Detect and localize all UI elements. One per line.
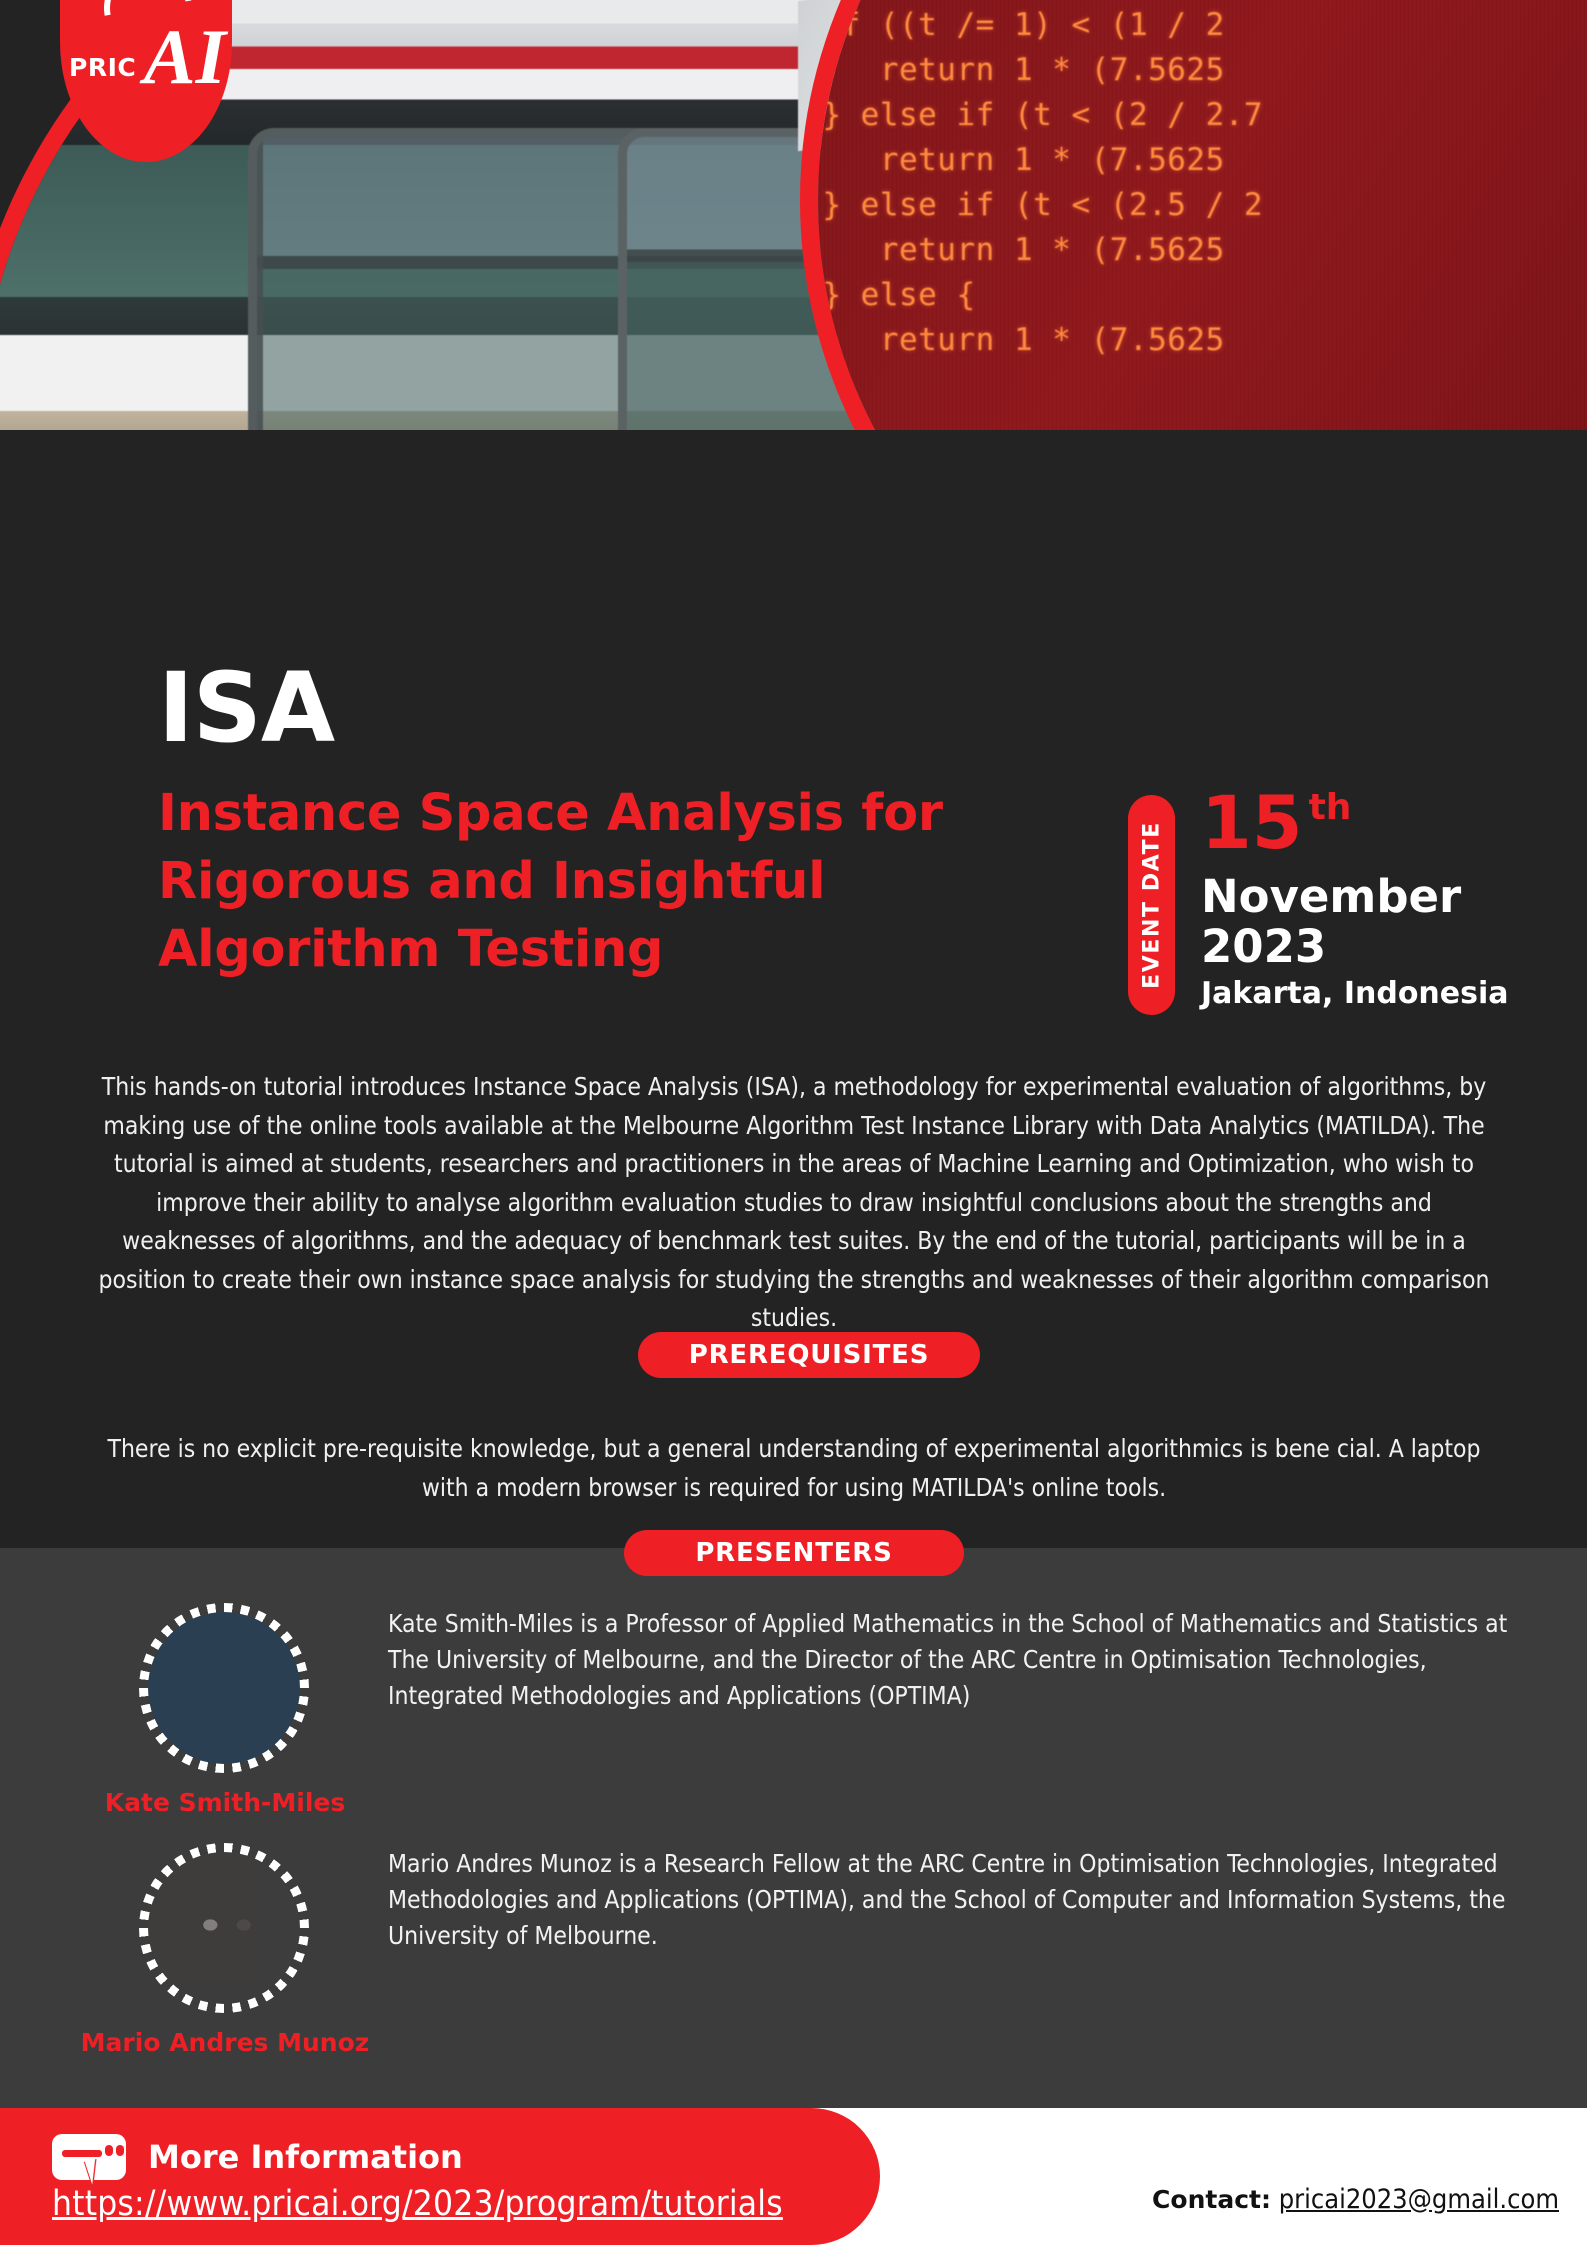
- browser-dot-right: [116, 2145, 124, 2156]
- presenter-name: Kate Smith-Miles: [60, 1788, 390, 1817]
- tutorials-url-link[interactable]: https://www.pricai.org/2023/program/tuto…: [52, 2184, 783, 2224]
- contact-label: Contact:: [1152, 2185, 1271, 2214]
- header-bottom-mask: [0, 430, 1587, 600]
- browser-dot-left: [105, 2145, 113, 2156]
- presenter-name: Mario Andres Munoz: [60, 2028, 390, 2057]
- event-date-pill: EVENT DATE: [1128, 795, 1175, 1015]
- tutorial-description: This hands-on tutorial introduces Instan…: [96, 1068, 1492, 1338]
- avatar: [148, 1852, 300, 2004]
- avatar-photo: [148, 1852, 300, 2004]
- event-date-details: 15th November 2023 Jakarta, Indonesia: [1201, 787, 1531, 1012]
- page-subtitle: Instance Space Analysis for Rigorous and…: [158, 780, 1038, 984]
- browser-cursor-icon: [52, 2134, 126, 2180]
- event-date-pill-label: EVENT DATE: [1139, 821, 1164, 989]
- prerequisites-text: There is no explicit pre-requisite knowl…: [96, 1430, 1492, 1507]
- more-information-row: More Information: [52, 2134, 463, 2180]
- poster-root: eOutBounce: function if ((t /= 1) < (1 /…: [0, 0, 1587, 2245]
- portrait-kate-smith-miles: [148, 1612, 300, 1764]
- portrait-mario-andres-munoz: [148, 1852, 300, 2004]
- event-day-row: 15th: [1201, 787, 1531, 860]
- browser-address-bar-shape: [62, 2150, 102, 2157]
- logo-wordmark: PRIC: [69, 53, 136, 82]
- event-day-ordinal: th: [1309, 787, 1352, 828]
- more-information-label: More Information: [148, 2138, 463, 2176]
- pricai-logo-mark: PRIC AI: [60, 4, 232, 104]
- presenter-bio: Kate Smith-Miles is a Professor of Appli…: [388, 1606, 1508, 1714]
- page-title: ISA: [158, 660, 1038, 756]
- presenters-heading: PRESENTERS: [624, 1530, 964, 1576]
- event-location: Jakarta, Indonesia: [1201, 976, 1531, 1012]
- event-day: 15: [1201, 787, 1303, 860]
- footer-bar: More Information https://www.pricai.org/…: [0, 2108, 1587, 2245]
- prerequisites-heading: PREREQUISITES: [638, 1332, 980, 1378]
- logo-ai-letters: AI: [144, 18, 226, 96]
- avatar: [148, 1612, 300, 1764]
- avatar-photo: [148, 1612, 300, 1764]
- contact-email-link[interactable]: pricai2023@gmail.com: [1279, 2184, 1559, 2215]
- contact-row: Contact: pricai2023@gmail.com: [1152, 2184, 1559, 2215]
- header-banner: eOutBounce: function if ((t /= 1) < (1 /…: [0, 0, 1587, 600]
- event-year: 2023: [1201, 922, 1531, 972]
- title-block: ISA Instance Space Analysis for Rigorous…: [158, 660, 1038, 984]
- presenter-bio: Mario Andres Munoz is a Research Fellow …: [388, 1846, 1508, 1954]
- event-month: November: [1201, 872, 1531, 922]
